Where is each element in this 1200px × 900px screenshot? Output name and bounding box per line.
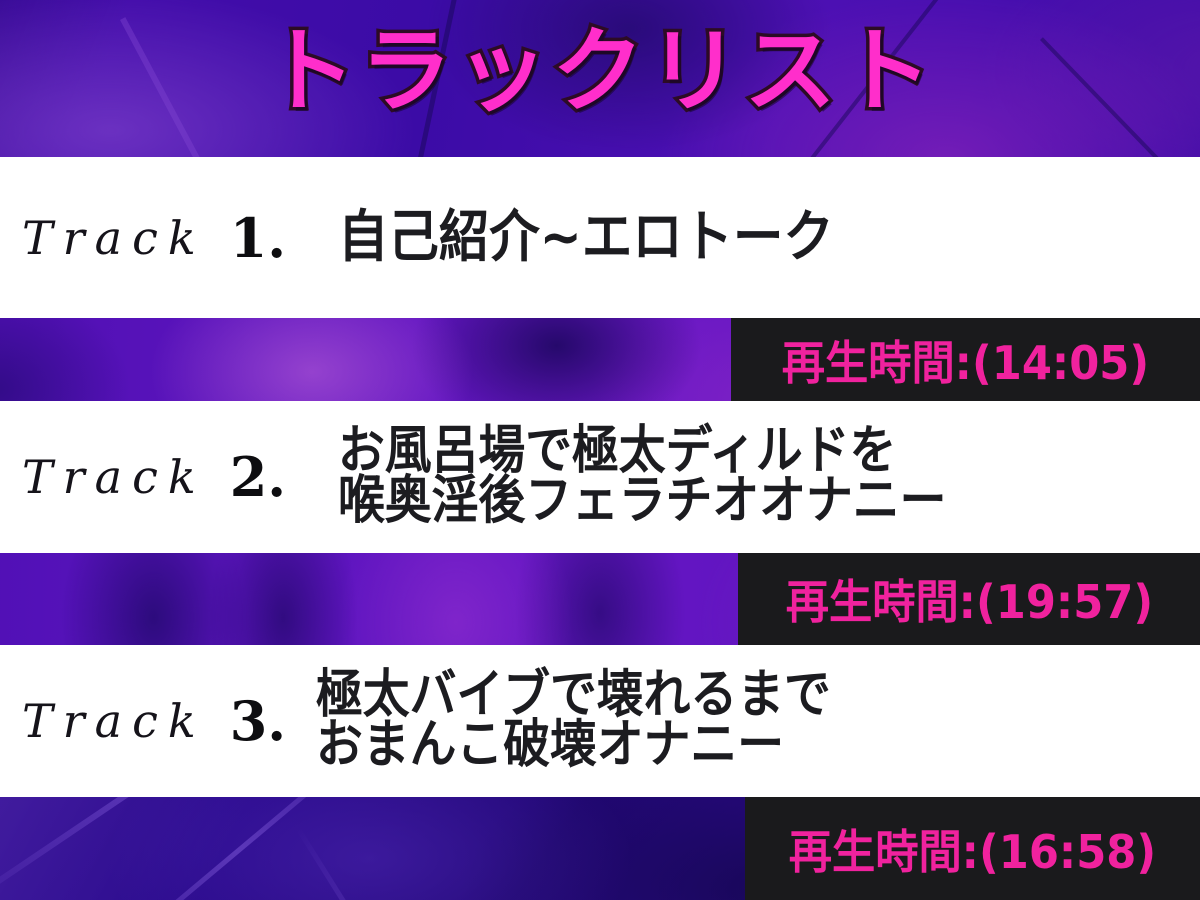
duration-text-2: 再生時間:(19:57) (785, 566, 1152, 632)
track-number-3: 3. (230, 694, 286, 748)
header-band: トラックリスト (0, 0, 1200, 157)
duration-plate-2: 再生時間:(19:57) (738, 553, 1200, 645)
track-row-3[interactable]: Track 3. 極太バイブで壊れるまで おまんこ破壊オナニー (0, 645, 1200, 797)
track-label-2: Track (22, 454, 206, 500)
duration-text-1: 再生時間:(14:05) (782, 327, 1149, 393)
duration-plate-1: 再生時間:(14:05) (731, 318, 1200, 401)
track-title-1: 自己紹介~エロトーク (338, 211, 834, 265)
tracklist-page: トラックリスト Track 1. 自己紹介~エロトーク 再生時間:(14:05)… (0, 0, 1200, 900)
track-label-1: Track (22, 215, 206, 261)
track-number-2: 2. (230, 450, 286, 504)
track-label-3: Track (22, 698, 206, 744)
track-row-2[interactable]: Track 2. お風呂場で極太ディルドを 喉奥淫後フェラチオオナニー (0, 401, 1200, 553)
track-row-1[interactable]: Track 1. 自己紹介~エロトーク (0, 157, 1200, 318)
duration-text-3: 再生時間:(16:58) (789, 816, 1156, 882)
duration-plate-3: 再生時間:(16:58) (745, 797, 1200, 900)
page-title: トラックリスト (0, 26, 1200, 118)
track-title-3: 極太バイブで壊れるまで おまんこ破壊オナニー (316, 671, 831, 771)
track-number-1: 1. (230, 211, 286, 265)
track-title-2: お風呂場で極太ディルドを 喉奥淫後フェラチオオナニー (338, 427, 946, 527)
